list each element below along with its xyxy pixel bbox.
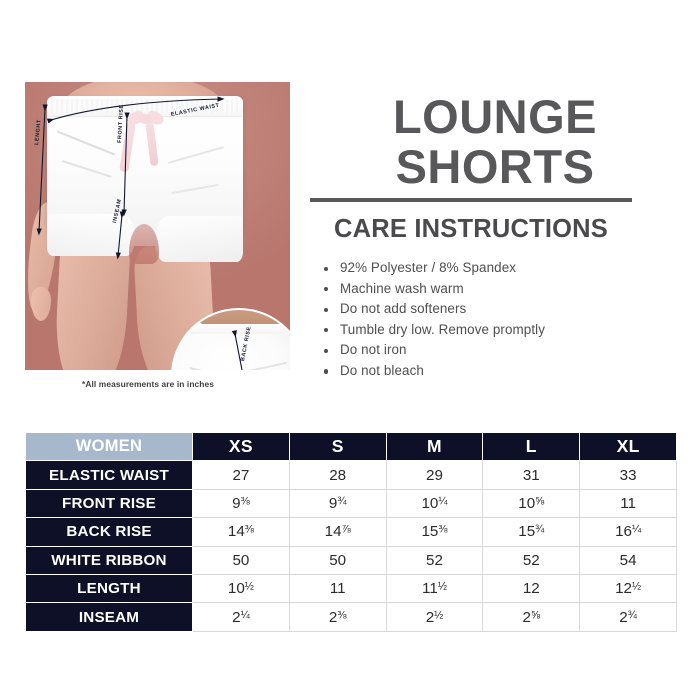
table-body: ELASTIC WAIST2728293133FRONT RISE9⅜9¾10¼… — [26, 461, 677, 631]
measurements-footnote: *All measurements are in inches — [82, 379, 214, 389]
measurement-cell: 2½ — [386, 603, 483, 631]
measurement-cell: 54 — [580, 546, 677, 574]
measurement-cell: 33 — [580, 461, 677, 489]
title-divider — [310, 198, 632, 202]
measurement-cell: 52 — [386, 546, 483, 574]
measurement-cell: 10⅝ — [483, 489, 580, 517]
measurement-cell: 2¼ — [193, 603, 290, 631]
header-size-xs: XS — [193, 433, 290, 461]
measurement-cell: 9⅜ — [193, 489, 290, 517]
care-item: Tumble dry low. Remove promptly — [322, 320, 682, 341]
measurement-cell: 28 — [289, 461, 386, 489]
measurement-cell: 12 — [483, 574, 580, 602]
row-label: WHITE RIBBON — [26, 546, 193, 574]
table-header-row: WOMEN XS S M L XL — [26, 433, 677, 461]
measurement-cell: 50 — [289, 546, 386, 574]
care-item: Do not add softeners — [322, 299, 682, 320]
header-size-m: M — [386, 433, 483, 461]
header-women: WOMEN — [26, 433, 193, 461]
measurement-cell: 31 — [483, 461, 580, 489]
title-line-2: SHORTS — [310, 142, 680, 192]
table-row: ELASTIC WAIST2728293133 — [26, 461, 677, 489]
measurement-cell: 52 — [483, 546, 580, 574]
row-label: INSEAM — [26, 603, 193, 631]
title-line-1: LOUNGE — [310, 92, 680, 142]
table-row: INSEAM2¼2⅜2½2⅝2¾ — [26, 603, 677, 631]
measurement-cell: 2⅜ — [289, 603, 386, 631]
table-row: BACK RISE14⅜14⅞15⅜15¾16¼ — [26, 518, 677, 546]
size-chart-page: ELASTIC WAIST LENGHT FRONT RISE INSEAM B… — [0, 0, 700, 700]
care-item: Do not bleach — [322, 361, 682, 382]
measurement-cell: 15¾ — [483, 518, 580, 546]
row-label: LENGTH — [26, 574, 193, 602]
measurement-cell: 15⅜ — [386, 518, 483, 546]
measurement-cell: 2⅝ — [483, 603, 580, 631]
measurement-cell: 50 — [193, 546, 290, 574]
measurement-cell: 29 — [386, 461, 483, 489]
row-label: FRONT RISE — [26, 489, 193, 517]
measurement-cell: 11 — [580, 489, 677, 517]
care-instructions-heading: CARE INSTRUCTIONS — [310, 215, 632, 244]
product-title: LOUNGE SHORTS — [310, 92, 680, 192]
rear-view-inset: BACK RISE — [173, 310, 290, 370]
measurement-cell: 2¾ — [580, 603, 677, 631]
header-size-s: S — [289, 433, 386, 461]
measurement-cell: 27 — [193, 461, 290, 489]
measurement-cell: 14⅜ — [193, 518, 290, 546]
care-instructions-list: 92% Polyester / 8% Spandex Machine wash … — [322, 258, 682, 382]
measurement-cell: 10½ — [193, 574, 290, 602]
measurement-cell: 9¾ — [289, 489, 386, 517]
table-row: WHITE RIBBON5050525254 — [26, 546, 677, 574]
header-size-l: L — [483, 433, 580, 461]
measurement-cell: 11 — [289, 574, 386, 602]
measurement-cell: 10¼ — [386, 489, 483, 517]
measurement-cell: 16¼ — [580, 518, 677, 546]
measurement-cell: 14⅞ — [289, 518, 386, 546]
care-item: Machine wash warm — [322, 279, 682, 300]
row-label: BACK RISE — [26, 518, 193, 546]
product-photo: ELASTIC WAIST LENGHT FRONT RISE INSEAM B… — [25, 82, 290, 370]
table-row: LENGTH10½1111½1212½ — [26, 574, 677, 602]
care-item: 92% Polyester / 8% Spandex — [322, 258, 682, 279]
care-item: Do not iron — [322, 340, 682, 361]
row-label: ELASTIC WAIST — [26, 461, 193, 489]
measurement-cell: 11½ — [386, 574, 483, 602]
measurement-cell: 12½ — [580, 574, 677, 602]
back-rise-arrow — [173, 310, 290, 370]
size-chart-table: WOMEN XS S M L XL ELASTIC WAIST272829313… — [25, 432, 677, 632]
table-row: FRONT RISE9⅜9¾10¼10⅝11 — [26, 489, 677, 517]
header-size-xl: XL — [580, 433, 677, 461]
